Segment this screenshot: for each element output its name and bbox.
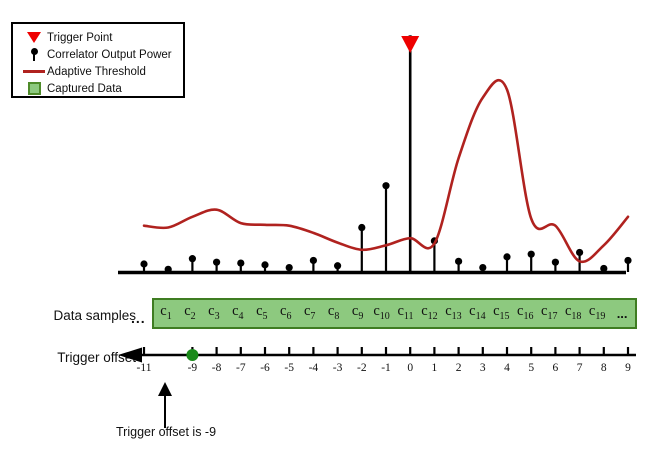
axis-tick-label: 1 [432, 362, 438, 374]
data-sample-cell: c5 [250, 304, 274, 324]
data-sample-cell: c1 [154, 304, 178, 324]
stem-head-dot [552, 259, 559, 266]
axis-tick-label: 0 [407, 362, 413, 374]
data-sample-cell: c10 [370, 304, 394, 324]
data-sample-cell: c18 [561, 304, 585, 324]
axis-tick-label: 8 [601, 362, 607, 374]
samples-ellipsis-left: ... [131, 310, 146, 326]
data-samples-label: Data samples [18, 308, 136, 323]
stem-head-dot [237, 260, 244, 267]
stem-head-dot [310, 257, 317, 264]
stem-head-dot [140, 260, 147, 267]
axis-tick-label: 4 [504, 362, 510, 374]
stem-head-dot [576, 249, 583, 256]
axis-tick-label: -9 [188, 362, 198, 374]
axis-tick-label: -7 [236, 362, 246, 374]
stem-head-dot [479, 264, 486, 271]
data-sample-cell: c17 [537, 304, 561, 324]
axis-tick-label: 9 [625, 362, 631, 374]
stem-head-dot [528, 251, 535, 258]
data-sample-cell: c15 [489, 304, 513, 324]
axis-left-arrow-icon [118, 348, 142, 363]
data-sample-cell: c11 [394, 304, 418, 324]
trigger-point-marker-icon [401, 36, 419, 53]
axis-tick-label: 2 [456, 362, 462, 374]
samples-ellipsis-right: ... [609, 306, 635, 321]
data-sample-cell: c12 [417, 304, 441, 324]
data-sample-cell: c8 [322, 304, 346, 324]
axis-tick-label: -11 [137, 362, 152, 374]
axis-tick-label: 3 [480, 362, 486, 374]
axis-tick-label: 5 [528, 362, 534, 374]
data-sample-cell: c16 [513, 304, 537, 324]
stem-head-dot [382, 182, 389, 189]
axis-tick-label: 7 [577, 362, 583, 374]
axis-tick-label: -2 [357, 362, 367, 374]
trigger-offset-marker-icon [186, 349, 198, 361]
stem-head-dot [213, 259, 220, 266]
data-sample-cell: c2 [178, 304, 202, 324]
stem-head-dot [624, 257, 631, 264]
data-sample-cell: c14 [465, 304, 489, 324]
stem-head-dot [334, 262, 341, 269]
data-sample-cell: c13 [441, 304, 465, 324]
axis-tick-label: -1 [381, 362, 391, 374]
axis-tick-label: 6 [553, 362, 559, 374]
stem-head-dot [358, 224, 365, 231]
stem-series [140, 35, 631, 273]
stem-head-dot [261, 261, 268, 268]
data-sample-cell: c7 [298, 304, 322, 324]
stem-head-dot [503, 253, 510, 260]
stem-head-dot [286, 264, 293, 271]
captured-data-band: c1c2c3c4c5c6c7c8c9c10c11c12c13c14c15c16c… [152, 298, 637, 329]
axis-tick-label: -5 [284, 362, 294, 374]
data-sample-cell: c3 [202, 304, 226, 324]
note-callout-arrow-icon [150, 382, 180, 428]
axis-tick-label: -6 [260, 362, 270, 374]
axis-tick-labels: -11-9-8-7-6-5-4-3-2-10123456789 [0, 362, 650, 380]
stem-head-dot [189, 255, 196, 262]
data-sample-cell: c19 [585, 304, 609, 324]
stem-head-dot [455, 258, 462, 265]
data-sample-cell: c9 [346, 304, 370, 324]
data-sample-cell: c4 [226, 304, 250, 324]
trigger-offset-note: Trigger offset is -9 [116, 425, 216, 439]
axis-tick-group [144, 347, 628, 355]
correlator-plot [0, 0, 650, 292]
axis-tick-label: -8 [212, 362, 222, 374]
figure-root: Trigger Point Correlator Output Power Ad… [0, 0, 650, 460]
axis-tick-label: -3 [333, 362, 343, 374]
data-sample-cell: c6 [274, 304, 298, 324]
axis-tick-label: -4 [309, 362, 319, 374]
